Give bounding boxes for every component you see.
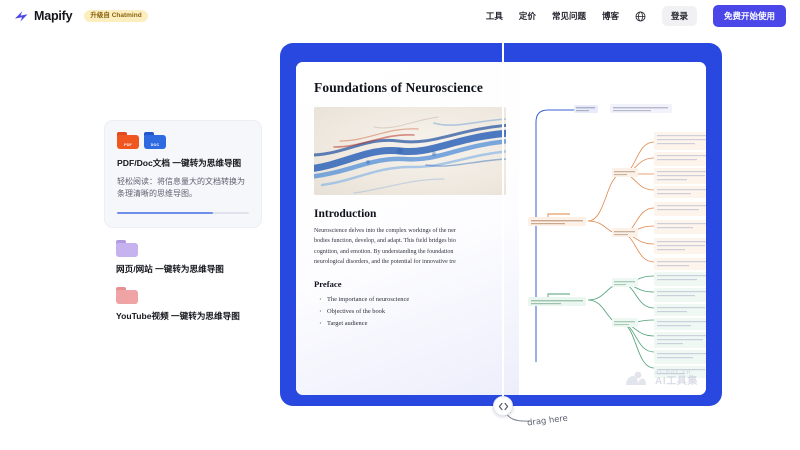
brand[interactable]: Mapify 升级自 Chatmind	[14, 9, 148, 24]
ai-bot-logo-icon	[630, 371, 651, 386]
watermark-name: AI工具集	[655, 377, 698, 387]
feature-title: PDF/Doc文档 一键转为思维导图	[117, 158, 249, 170]
mindmap-graph	[519, 62, 706, 395]
feature-card-youtube[interactable]: YouTube视频 一键转为思维导图	[104, 275, 262, 323]
list-item: Target audience	[327, 318, 503, 330]
feature-icons	[116, 240, 250, 257]
lightning-bolt-icon	[14, 9, 29, 24]
feature-list: PDF DOC PDF/Doc文档 一键转为思维导图 轻松阅读：将信息量大的文档…	[104, 120, 262, 323]
document-paragraph-line: neurological disorders, and the potentia…	[314, 257, 519, 267]
feature-icons: PDF DOC	[117, 132, 249, 149]
nav-pricing[interactable]: 定价	[519, 10, 536, 22]
feature-description: 轻松阅读：将信息量大的文档转换为条理清晰的思维导图。	[117, 176, 249, 202]
login-button[interactable]: 登录	[662, 6, 697, 26]
document-paragraph-line: cognition, and emotion. By understanding…	[314, 247, 519, 257]
document-title: Foundations of Neuroscience	[314, 80, 503, 96]
web-page-icon	[116, 240, 138, 257]
document-preface-heading: Preface	[314, 279, 503, 289]
brand-name: Mapify	[34, 9, 72, 23]
feature-card-pdf-doc[interactable]: PDF DOC PDF/Doc文档 一键转为思维导图 轻松阅读：将信息量大的文档…	[104, 120, 262, 228]
youtube-video-icon	[116, 287, 138, 304]
start-free-button[interactable]: 免费开始使用	[713, 5, 786, 27]
preview-panel: Foundations of Neuroscience	[280, 43, 722, 406]
document-preface-list: The importance of neuroscience Objective…	[314, 294, 503, 330]
pdf-icon-label: PDF	[124, 143, 132, 147]
document-section-heading: Introduction	[314, 208, 503, 220]
compare-drag-handle[interactable]	[493, 396, 513, 416]
nav-tools[interactable]: 工具	[486, 10, 503, 22]
nav-blog[interactable]: 博客	[602, 10, 619, 22]
feature-title: YouTube视频 一键转为思维导图	[116, 311, 250, 323]
comparison-viewer: Foundations of Neuroscience	[296, 62, 706, 395]
document-paragraph-line: bodies function, develop, and adapt. Thi…	[314, 236, 519, 246]
feature-icons	[116, 287, 250, 304]
list-item: Objectives of the book	[327, 306, 503, 318]
feature-title: 网页/网站 一键转为思维导图	[116, 264, 250, 276]
pdf-file-icon: PDF	[117, 132, 139, 149]
feature-card-web[interactable]: 网页/网站 一键转为思维导图	[104, 228, 262, 276]
compare-divider	[502, 43, 504, 406]
drag-left-right-icon	[498, 402, 509, 411]
list-item: The importance of neuroscience	[327, 294, 503, 306]
main-nav: 工具 定价 常见问题 博客 登录 免费开始使用	[486, 5, 786, 27]
upgrade-badge: 升级自 Chatmind	[84, 10, 147, 22]
document-preview: Foundations of Neuroscience	[296, 62, 519, 395]
doc-icon-label: DOC	[151, 143, 160, 147]
feature-progress-bar	[117, 212, 249, 214]
document-paragraph-line: Neuroscience delves into the complex wor…	[314, 226, 519, 236]
nav-faq[interactable]: 常见问题	[552, 10, 586, 22]
mindmap-preview[interactable]: ai-bot.cn AI工具集	[519, 62, 706, 395]
neuron-illustration	[314, 107, 506, 195]
globe-icon[interactable]	[635, 11, 646, 22]
site-header: Mapify 升级自 Chatmind 工具 定价 常见问题 博客 登录 免费开…	[0, 0, 800, 32]
watermark: ai-bot.cn AI工具集	[630, 370, 698, 387]
doc-file-icon: DOC	[144, 132, 166, 149]
